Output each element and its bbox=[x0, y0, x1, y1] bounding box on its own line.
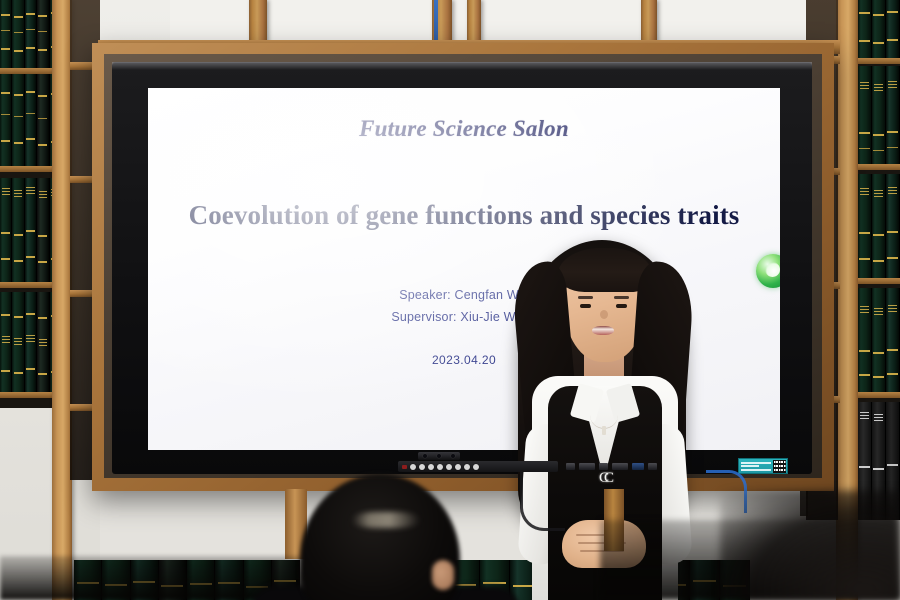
ir-receiver-icon bbox=[402, 465, 407, 469]
presenter-brow-right bbox=[614, 296, 629, 299]
book-spine bbox=[858, 288, 872, 392]
presenter-necklace bbox=[590, 402, 618, 429]
book-row bbox=[858, 174, 900, 278]
presenter-brooch-icon: CC bbox=[590, 470, 618, 486]
display-button[interactable] bbox=[455, 464, 461, 470]
shelf-post-left bbox=[52, 0, 72, 600]
wall-panel-upper bbox=[170, 0, 870, 44]
asset-tag-line bbox=[741, 469, 771, 471]
display-button[interactable] bbox=[428, 464, 434, 470]
book-spine bbox=[886, 288, 900, 392]
presenter-eye-left bbox=[580, 304, 591, 308]
sensor-icon bbox=[437, 454, 441, 458]
book-spine bbox=[12, 74, 24, 166]
book-spine bbox=[872, 0, 886, 58]
audience-hand bbox=[432, 560, 454, 590]
book-spine bbox=[886, 174, 900, 278]
display-button[interactable] bbox=[446, 464, 452, 470]
book-spine bbox=[37, 178, 49, 282]
port-aux[interactable] bbox=[599, 463, 608, 470]
asset-tag-line bbox=[741, 465, 759, 467]
display-power-button[interactable] bbox=[473, 464, 479, 470]
slide-kicker: Future Science Salon bbox=[148, 116, 780, 142]
qr-code-icon bbox=[773, 460, 786, 473]
presenter-pendant bbox=[602, 426, 606, 435]
audience-hair-highlight bbox=[352, 512, 420, 528]
port-vga[interactable] bbox=[612, 463, 628, 470]
display-port-row[interactable] bbox=[566, 462, 684, 471]
book-spine bbox=[858, 0, 872, 58]
presenter-nose bbox=[600, 310, 608, 319]
book-spine bbox=[886, 66, 900, 164]
book-spine bbox=[12, 178, 24, 282]
asset-tag-line bbox=[741, 462, 771, 464]
book-spine bbox=[37, 292, 49, 392]
book-spine bbox=[858, 66, 872, 164]
presenter-eye-right bbox=[616, 304, 627, 308]
book-spine bbox=[37, 0, 49, 68]
book-row bbox=[858, 66, 900, 164]
presenter-mouth bbox=[592, 326, 614, 335]
book-spine bbox=[37, 74, 49, 166]
book-spine bbox=[25, 178, 37, 282]
slide-title: Coevolution of gene functions and specie… bbox=[178, 200, 750, 231]
book-spine bbox=[858, 174, 872, 278]
book-spine bbox=[872, 288, 886, 392]
shelf-edge bbox=[858, 392, 900, 398]
port-usb[interactable] bbox=[632, 463, 644, 470]
asset-tag-text bbox=[740, 460, 771, 472]
book-spine bbox=[886, 0, 900, 58]
port-audio[interactable] bbox=[566, 463, 575, 470]
book-spine bbox=[0, 74, 12, 166]
asset-tag bbox=[738, 458, 788, 474]
display-button[interactable] bbox=[419, 464, 425, 470]
book-spine bbox=[872, 174, 886, 278]
book-row bbox=[858, 0, 900, 58]
corner-vignette bbox=[720, 490, 900, 600]
book-spine bbox=[25, 74, 37, 166]
mic-icon bbox=[451, 454, 455, 458]
book-spine bbox=[25, 292, 37, 392]
book-spine bbox=[12, 292, 24, 392]
book-spine bbox=[25, 0, 37, 68]
port-lan[interactable] bbox=[648, 463, 657, 470]
shelf-edge bbox=[858, 58, 900, 64]
photo-scene: Future Science Salon Coevolution of gene… bbox=[0, 0, 900, 600]
bookcase-right bbox=[858, 0, 900, 520]
book-spine bbox=[0, 0, 12, 68]
shelf-edge bbox=[858, 278, 900, 284]
display-button[interactable] bbox=[410, 464, 416, 470]
book-spine bbox=[0, 178, 12, 282]
port-hdmi[interactable] bbox=[579, 463, 595, 470]
shelf-edge bbox=[858, 164, 900, 170]
green-circle-logo-icon bbox=[756, 254, 780, 288]
display-bezel-highlight bbox=[112, 62, 812, 70]
book-spine bbox=[872, 66, 886, 164]
book-spine bbox=[12, 0, 24, 68]
display-sensor-bar bbox=[418, 452, 460, 460]
power-cable bbox=[520, 470, 565, 531]
book-spine bbox=[0, 292, 12, 392]
presenter-brow-left bbox=[578, 296, 593, 299]
display-button[interactable] bbox=[464, 464, 470, 470]
display-button[interactable] bbox=[437, 464, 443, 470]
book-row bbox=[858, 288, 900, 392]
camera-lens-icon bbox=[423, 454, 427, 458]
